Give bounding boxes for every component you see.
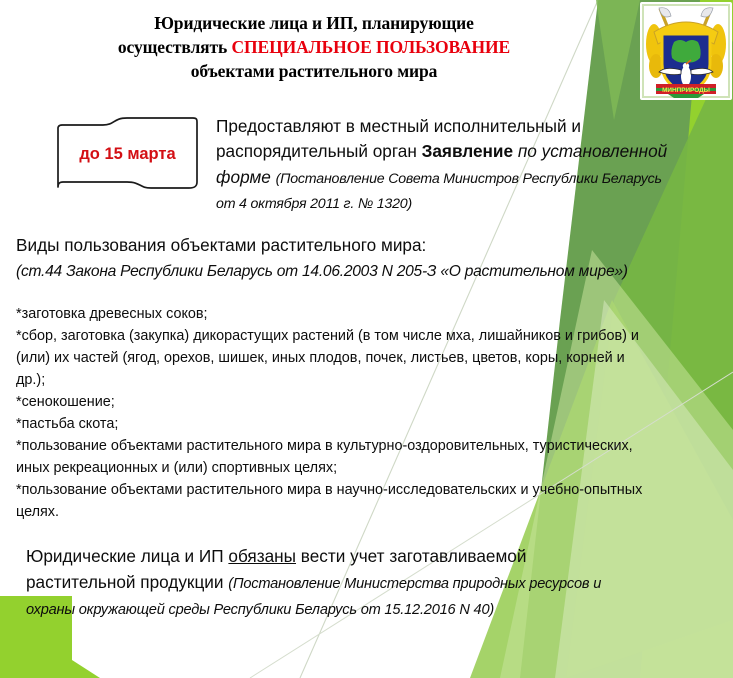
emblem-ribbon-text: МИНПРИРОДЫ	[662, 87, 710, 94]
list-item: *пользование объектами растительного мир…	[16, 479, 652, 523]
ministry-emblem: МИНПРИРОДЫ	[640, 2, 732, 100]
section-title-block: Виды пользования объектами растительного…	[16, 233, 706, 283]
emblem-belarus-map	[671, 40, 700, 63]
apply-paragraph-reference: (Постановление Совета Министров Республи…	[216, 171, 662, 212]
page-title-line-2-prefix: осуществлять	[118, 37, 232, 57]
slide-canvas: МИНПРИРОДЫ Юридические лица и ИП, планир…	[0, 0, 733, 678]
deadline-banner-label: до 15 марта	[55, 116, 200, 192]
page-title-line-2: осуществлять СПЕЦИАЛЬНОЕ ПОЛЬЗОВАНИЕ	[14, 36, 614, 60]
list-item: *сбор, заготовка (закупка) дикорастущих …	[16, 325, 652, 391]
page-title: Юридические лица и ИП, планирующие осуще…	[14, 12, 614, 83]
page-title-line-1: Юридические лица и ИП, планирующие	[14, 12, 614, 36]
obligation-underlined: обязаны	[228, 546, 296, 566]
page-title-line-3: объектами растительного мира	[14, 60, 614, 84]
list-item: *пастьба скота;	[16, 413, 652, 435]
uses-list: *заготовка древесных соков; *сбор, загот…	[16, 303, 652, 523]
obligation-part1: Юридические лица и ИП	[26, 546, 228, 566]
deadline-banner: до 15 марта	[55, 116, 200, 192]
section-law-reference: (ст.44 Закона Республики Беларусь от 14.…	[16, 260, 706, 283]
obligation-paragraph: Юридические лица и ИП обязаны вести учет…	[26, 543, 626, 621]
decor-shape-bright-band	[640, 0, 733, 678]
section-title-text: Виды пользования объектами растительного…	[16, 235, 426, 255]
page-title-highlight: СПЕЦИАЛЬНОЕ ПОЛЬЗОВАНИЕ	[231, 37, 510, 57]
list-item: *сенокошение;	[16, 391, 652, 413]
apply-paragraph-bold: Заявление	[422, 141, 513, 161]
list-item: *пользование объектами растительного мир…	[16, 435, 652, 479]
list-item: *заготовка древесных соков;	[16, 303, 652, 325]
emblem-ribbon: МИНПРИРОДЫ	[656, 84, 716, 94]
apply-paragraph: Предоставляют в местный исполнительный и…	[216, 114, 671, 215]
